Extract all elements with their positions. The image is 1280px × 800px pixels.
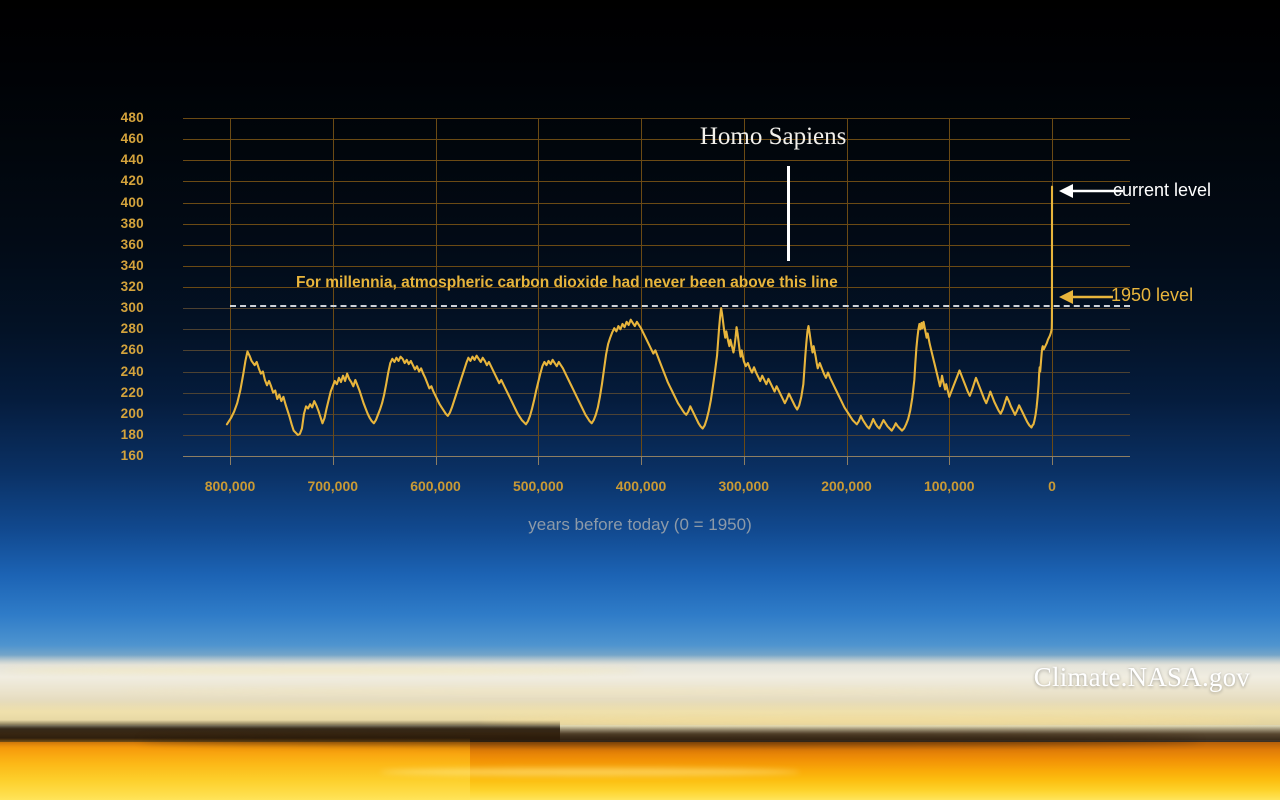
y-tick-label-440: 440 (84, 152, 144, 167)
y-tick-label-320: 320 (84, 279, 144, 294)
y-tick-label-160: 160 (84, 448, 144, 463)
screenshot-root: carbon dioxide level (parts per million)… (0, 0, 1280, 800)
x-tick-mark-0 (1052, 456, 1053, 465)
y-tick-label-220: 220 (84, 385, 144, 400)
x-tick-mark-100000 (949, 456, 950, 465)
x-tick-mark-600000 (436, 456, 437, 465)
current-level-label: current level (1113, 180, 1211, 201)
y-tick-label-300: 300 (84, 300, 144, 315)
x-tick-mark-300000 (744, 456, 745, 465)
y-tick-label-280: 280 (84, 321, 144, 336)
x-tick-mark-200000 (847, 456, 848, 465)
y-tick-label-460: 460 (84, 131, 144, 146)
y-tick-label-420: 420 (84, 173, 144, 188)
x-tick-label-0: 0 (992, 478, 1112, 494)
x-axis-title: years before today (0 = 1950) (400, 515, 880, 535)
y-tick-label-260: 260 (84, 342, 144, 357)
x-tick-mark-800000 (230, 456, 231, 465)
x-tick-mark-700000 (333, 456, 334, 465)
y-tick-label-180: 180 (84, 427, 144, 442)
1950-level-arrow-icon (1055, 284, 1115, 310)
x-tick-mark-500000 (538, 456, 539, 465)
x-axis-line (183, 456, 1130, 457)
co2-curve (183, 118, 1130, 456)
plot-area: For millennia, atmospheric carbon dioxid… (183, 118, 1130, 456)
y-tick-label-380: 380 (84, 216, 144, 231)
y-tick-label-360: 360 (84, 237, 144, 252)
x-tick-mark-400000 (641, 456, 642, 465)
nasa-watermark: Climate.NASA.gov (1034, 662, 1250, 693)
y-tick-label-400: 400 (84, 195, 144, 210)
y-tick-label-480: 480 (84, 110, 144, 125)
y-tick-label-240: 240 (84, 364, 144, 379)
1950-level-label: 1950 level (1111, 285, 1193, 306)
y-tick-label-340: 340 (84, 258, 144, 273)
y-tick-label-200: 200 (84, 406, 144, 421)
